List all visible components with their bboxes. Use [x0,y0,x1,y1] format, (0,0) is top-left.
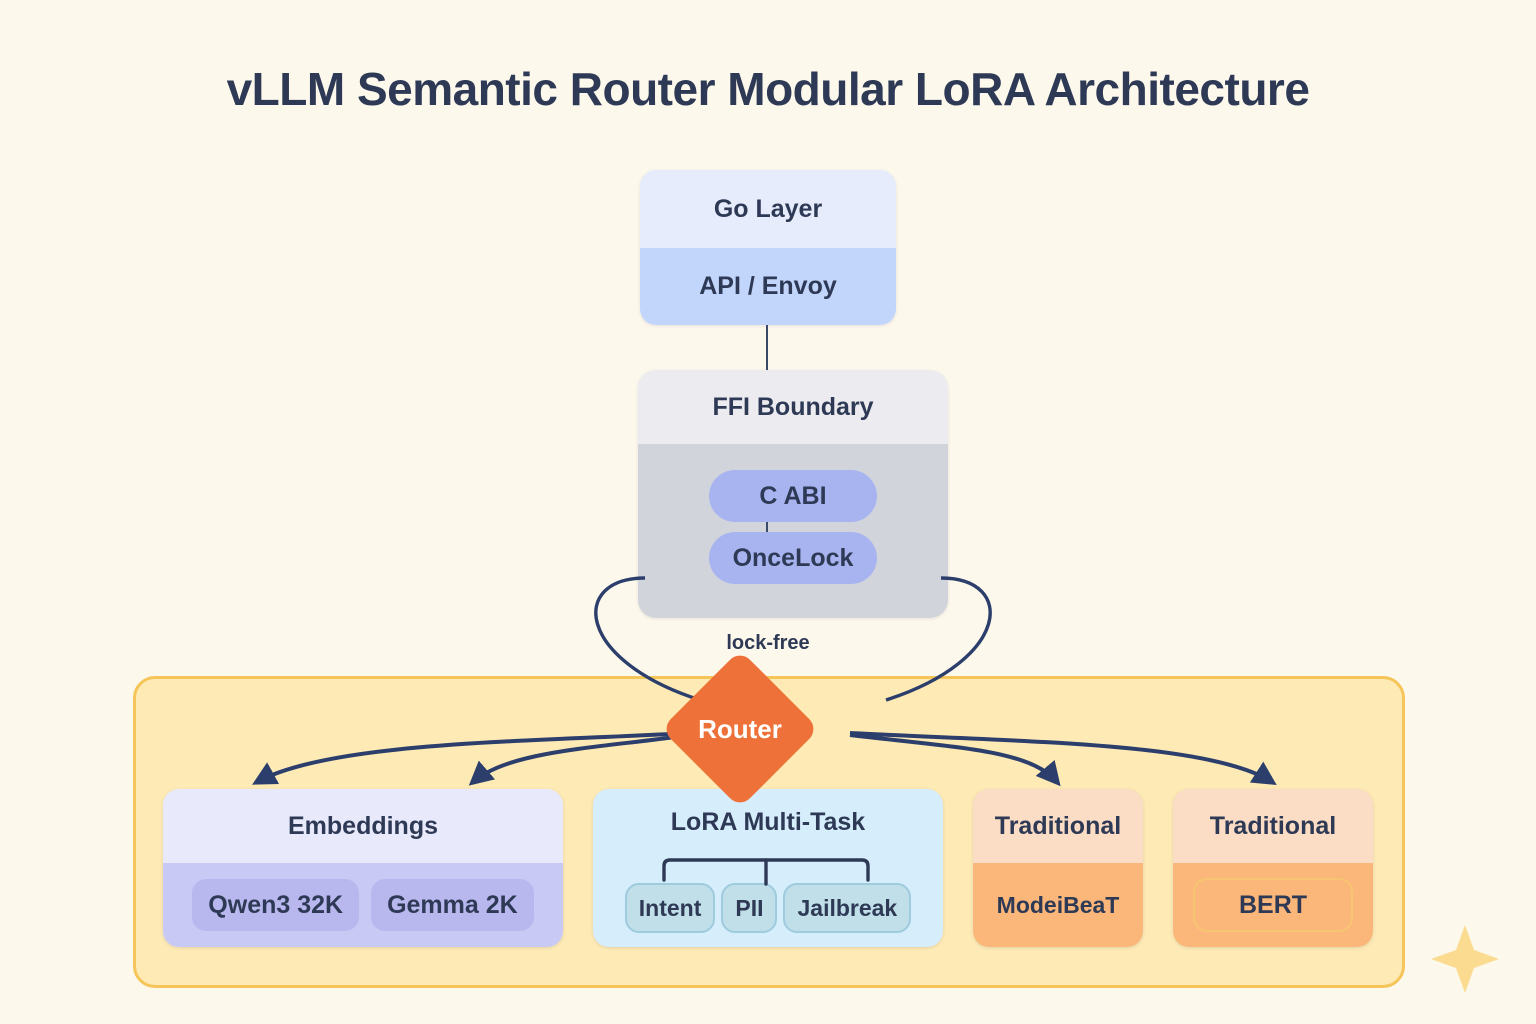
ffi-item-c-abi[interactable]: C ABI [709,470,877,522]
lora-multitask-body: Intent PII Jailbreak [593,855,943,947]
ffi-item-oncelock[interactable]: OnceLock [709,532,877,584]
lora-multitask-card[interactable]: LoRA Multi-Task Intent PII Jailbreak [593,789,943,947]
sparkle-icon [1431,925,1499,993]
traditional-modelbeat-card[interactable]: Traditional ModeiBeaT [973,789,1143,947]
ffi-boundary-card[interactable]: FFI Boundary C ABI OnceLock [638,370,948,618]
traditional-bert-body: BERT [1173,863,1373,947]
traditional-bert-header: Traditional [1173,789,1373,863]
ffi-boundary-header: FFI Boundary [638,370,948,444]
embeddings-header: Embeddings [163,789,563,863]
lora-pill-jailbreak[interactable]: Jailbreak [783,883,911,933]
lock-free-label: lock-free [688,632,848,655]
edge-go-to-ffi [766,325,768,370]
go-layer-body-label: API / Envoy [699,272,837,301]
lora-pill-intent[interactable]: Intent [625,883,716,933]
traditional-pill-bert[interactable]: BERT [1193,878,1353,932]
go-layer-body: API / Envoy [640,248,896,325]
traditional-modelbeat-label: ModeiBeaT [997,892,1120,919]
traditional-modelbeat-body: ModeiBeaT [973,863,1143,947]
lora-pill-pii[interactable]: PII [721,883,777,933]
traditional-bert-card[interactable]: Traditional BERT [1173,789,1373,947]
embeddings-card[interactable]: Embeddings Qwen3 32K Gemma 2K [163,789,563,947]
lora-multitask-header: LoRA Multi-Task [593,789,943,855]
page-title: vLLM Semantic Router Modular LoRA Archit… [0,62,1536,116]
go-layer-card[interactable]: Go Layer API / Envoy [640,170,896,325]
embeddings-body: Qwen3 32K Gemma 2K [163,863,563,947]
traditional-modelbeat-header: Traditional [973,789,1143,863]
go-layer-header: Go Layer [640,170,896,248]
embeddings-pill-gemma[interactable]: Gemma 2K [371,879,534,931]
ffi-boundary-body: C ABI OnceLock [638,444,948,618]
diagram-canvas: vLLM Semantic Router Modular LoRA Archit… [0,0,1536,1024]
embeddings-pill-qwen3[interactable]: Qwen3 32K [192,879,359,931]
